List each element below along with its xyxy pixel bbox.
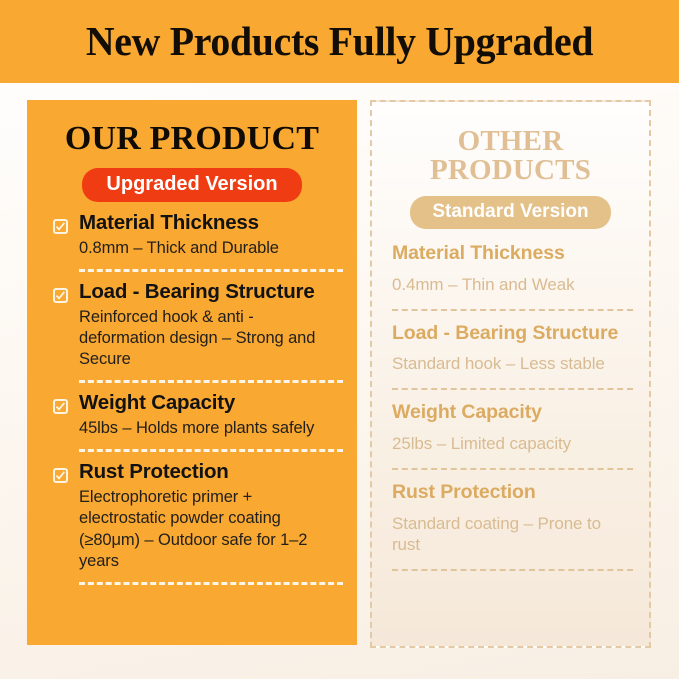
feature-description: 0.8mm – Thick and Durable — [79, 238, 343, 259]
list-item: Rust Protection Standard coating – Prone… — [392, 482, 633, 556]
other-products-panel: OTHER PRODUCTS Standard Version Material… — [370, 100, 651, 648]
feature-title: Material Thickness — [392, 243, 633, 265]
other-products-heading: OTHER PRODUCTS — [384, 102, 637, 185]
feature-title: Rust Protection — [79, 461, 343, 484]
divider — [79, 582, 343, 585]
checkbox-checked-icon — [53, 399, 68, 414]
feature-title: Weight Capacity — [392, 402, 633, 424]
list-item: Load - Bearing Structure Standard hook –… — [392, 323, 633, 376]
feature-description: 0.4mm – Thin and Weak — [392, 274, 633, 296]
list-item: Load - Bearing Structure Reinforced hook… — [53, 281, 343, 370]
checkbox-checked-icon — [53, 288, 68, 303]
divider — [79, 449, 343, 452]
standard-badge-wrap: Standard Version — [384, 185, 637, 229]
divider — [392, 468, 633, 470]
feature-text: Material Thickness 0.4mm – Thin and Weak — [392, 243, 633, 296]
divider — [79, 380, 343, 383]
list-item: Rust Protection Electrophoretic primer +… — [53, 461, 343, 571]
checkbox-checked-icon — [53, 468, 68, 483]
feature-text: Rust Protection Electrophoretic primer +… — [79, 461, 343, 571]
checkbox-checked-icon — [53, 219, 68, 234]
feature-title: Load - Bearing Structure — [392, 323, 633, 345]
feature-description: Standard coating – Prone to rust — [392, 513, 633, 557]
feature-text: Load - Bearing Structure Reinforced hook… — [79, 281, 343, 370]
feature-description: 25lbs – Limited capacity — [392, 433, 633, 455]
feature-description: Electrophoretic primer + electrostatic p… — [79, 487, 343, 571]
divider — [392, 569, 633, 571]
comparison-infographic: New Products Fully Upgraded OUR PRODUCT … — [0, 0, 679, 679]
our-product-panel: OUR PRODUCT Upgraded Version Material Th… — [27, 100, 357, 645]
list-item: Weight Capacity 25lbs – Limited capacity — [392, 402, 633, 455]
other-products-feature-list: Material Thickness 0.4mm – Thin and Weak… — [384, 243, 637, 571]
divider — [392, 388, 633, 390]
upgraded-version-badge: Upgraded Version — [82, 168, 301, 202]
list-item: Weight Capacity 45lbs – Holds more plant… — [53, 392, 343, 439]
feature-text: Weight Capacity 25lbs – Limited capacity — [392, 402, 633, 455]
list-item: Material Thickness 0.4mm – Thin and Weak — [392, 243, 633, 296]
our-product-heading: OUR PRODUCT — [39, 100, 345, 156]
feature-title: Material Thickness — [79, 212, 343, 235]
feature-title: Load - Bearing Structure — [79, 281, 343, 304]
feature-text: Load - Bearing Structure Standard hook –… — [392, 323, 633, 376]
divider — [79, 269, 343, 272]
feature-title: Weight Capacity — [79, 392, 343, 415]
panels-container: OUR PRODUCT Upgraded Version Material Th… — [0, 83, 679, 679]
feature-text: Material Thickness 0.8mm – Thick and Dur… — [79, 212, 343, 259]
our-product-feature-list: Material Thickness 0.8mm – Thick and Dur… — [39, 212, 345, 585]
upgraded-badge-wrap: Upgraded Version — [39, 156, 345, 202]
header-banner: New Products Fully Upgraded — [0, 0, 679, 83]
feature-description: Reinforced hook & anti - deformation des… — [79, 307, 343, 370]
standard-version-badge: Standard Version — [410, 196, 610, 229]
list-item: Material Thickness 0.8mm – Thick and Dur… — [53, 212, 343, 259]
divider — [392, 309, 633, 311]
page-title: New Products Fully Upgraded — [86, 21, 593, 62]
feature-title: Rust Protection — [392, 482, 633, 504]
feature-description: Standard hook – Less stable — [392, 353, 633, 375]
feature-description: 45lbs – Holds more plants safely — [79, 418, 343, 439]
feature-text: Rust Protection Standard coating – Prone… — [392, 482, 633, 556]
feature-text: Weight Capacity 45lbs – Holds more plant… — [79, 392, 343, 439]
